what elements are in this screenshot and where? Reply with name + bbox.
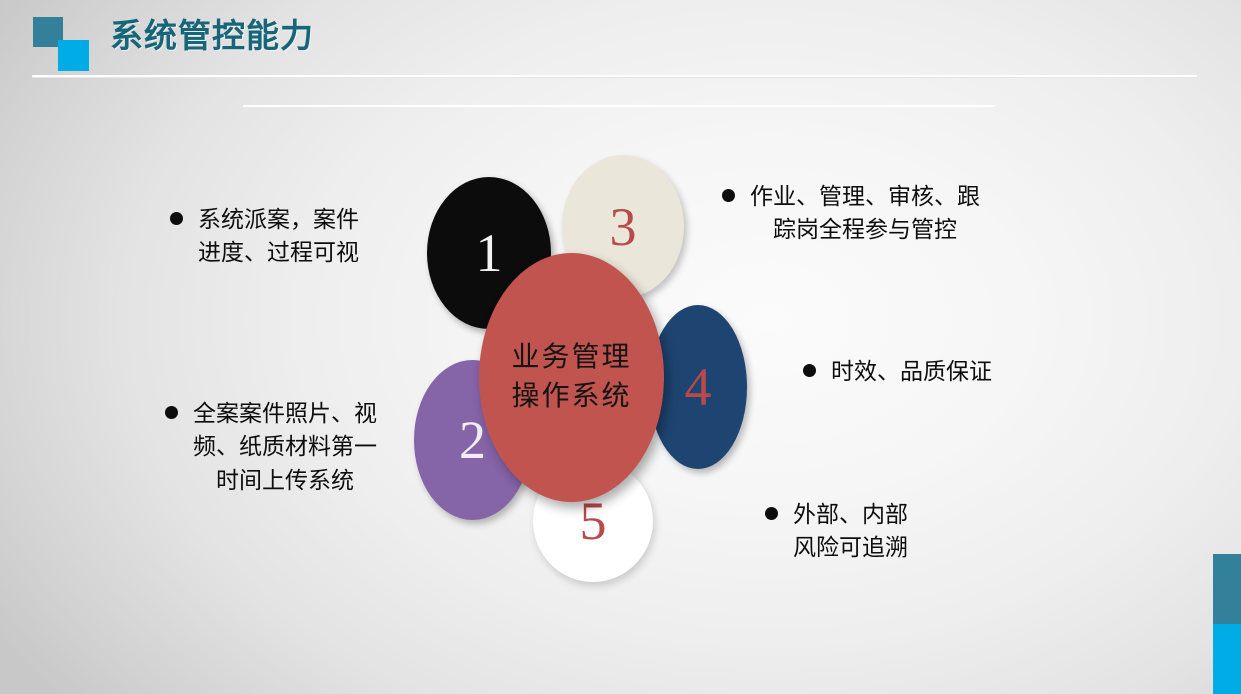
petal-number-2: 2 (459, 413, 486, 467)
callout-media-upload: 全案案件照片、视 频、纸质材料第一 时间上传系统 (165, 397, 377, 497)
callout-line: 作业、管理、审核、跟 (750, 180, 980, 213)
callout-line: 频、纸质材料第一 (193, 430, 377, 463)
callout-line: 外部、内部 (793, 498, 908, 531)
callout-line: 时间上传系统 (216, 464, 354, 497)
callout-risk-traceable: 外部、内部 风险可追溯 (765, 498, 908, 565)
center-label-line-1: 业务管理 (511, 339, 631, 378)
petal-number-3: 3 (610, 200, 637, 254)
callout-line: 进度、过程可视 (198, 236, 359, 269)
bullet-dot-icon (803, 364, 816, 377)
petal-number-4: 4 (685, 360, 712, 414)
bullet-dot-icon (170, 212, 183, 225)
callout-line: 全案案件照片、视 (193, 397, 377, 430)
callout-line: 风险可追溯 (793, 531, 908, 564)
callout-line: 时效、品质保证 (831, 355, 992, 388)
bullet-dot-icon (765, 507, 778, 520)
callout-line: 系统派案，案件 (198, 203, 359, 236)
page-title: 系统管控能力 (110, 19, 314, 52)
secondary-divider (243, 105, 995, 107)
corner-accent-bottom (1213, 624, 1241, 694)
slide-canvas: 系统管控能力 1 3 4 2 5 业务管理 操作系统 系统派案，案件 进度、过程… (0, 0, 1241, 694)
bullet-dot-icon (165, 406, 178, 419)
center-ellipse[interactable]: 业务管理 操作系统 (479, 253, 664, 502)
corner-accent-top (1213, 554, 1241, 624)
callout-system-dispatch: 系统派案，案件 进度、过程可视 (170, 203, 359, 270)
header-square-light-icon (58, 40, 89, 71)
callout-quality-guarantee: 时效、品质保证 (803, 355, 992, 388)
center-label-line-2: 操作系统 (511, 378, 631, 417)
bullet-dot-icon (722, 189, 735, 202)
petal-number-1: 1 (476, 226, 503, 280)
petal-number-5: 5 (580, 494, 607, 548)
callout-full-participation: 作业、管理、审核、跟 踪岗全程参与管控 (722, 180, 980, 247)
header-divider (32, 75, 1197, 78)
callout-line: 踪岗全程参与管控 (773, 213, 957, 246)
